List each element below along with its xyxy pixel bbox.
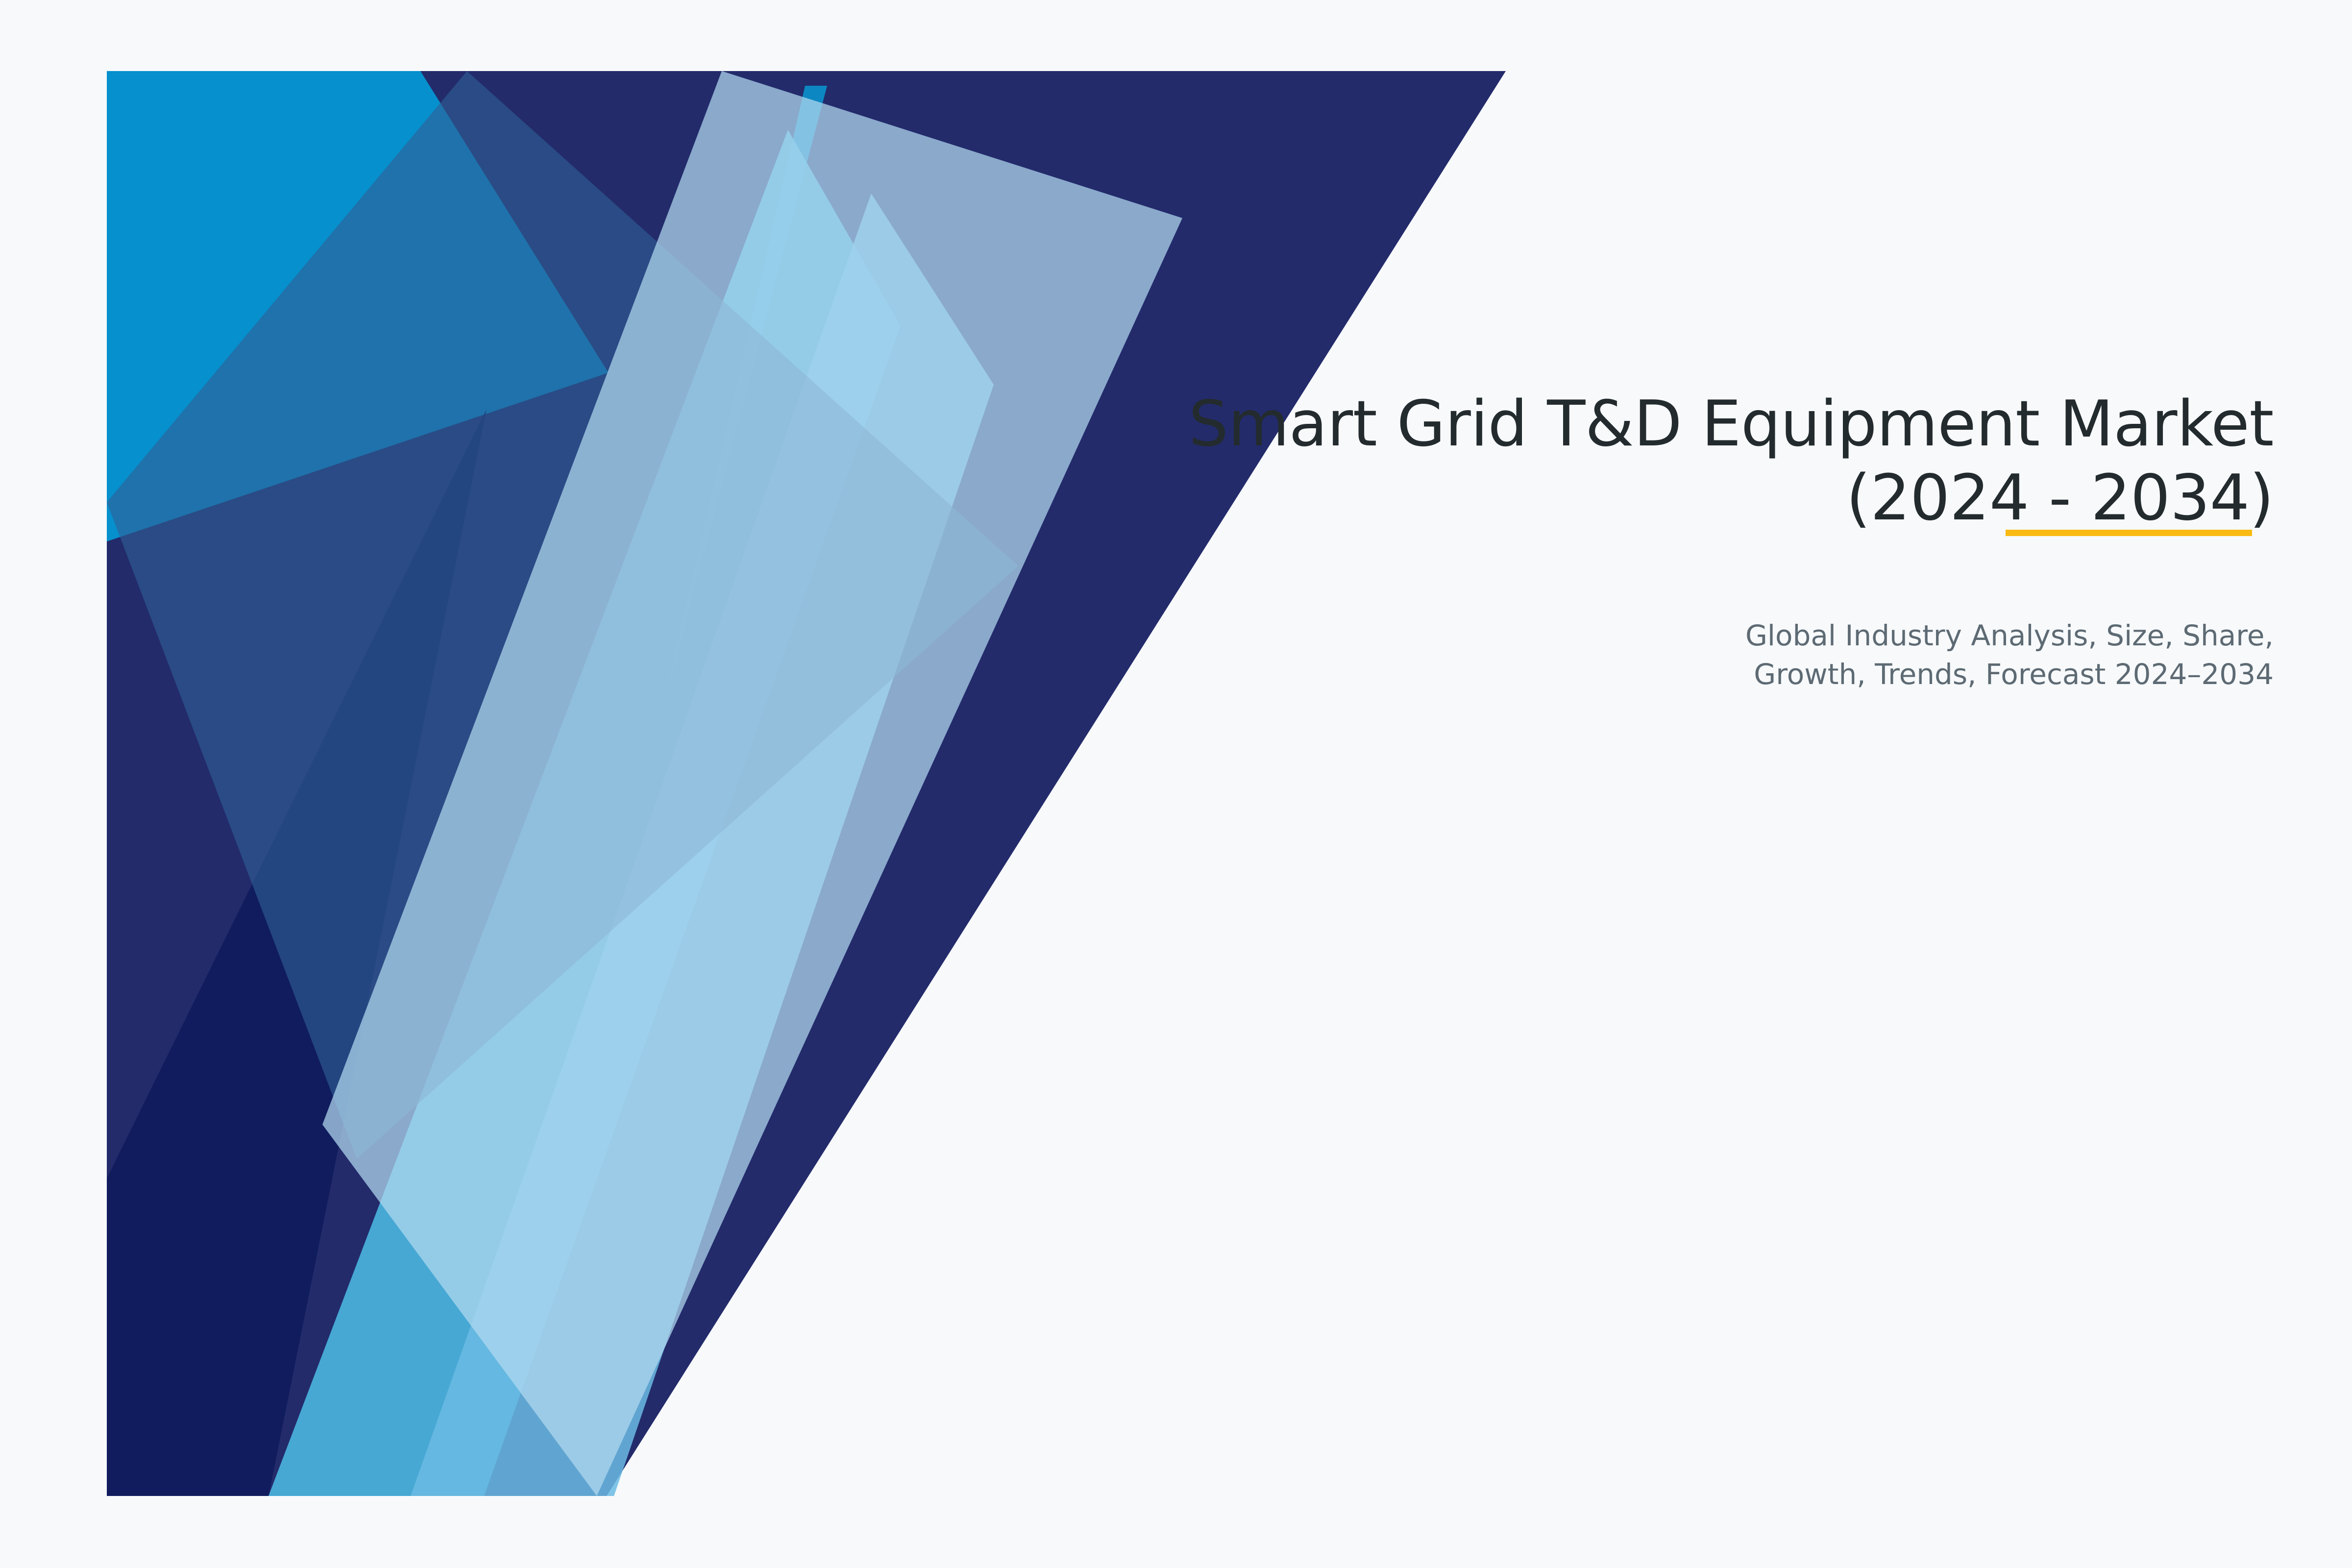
page-title-line-1: Smart Grid T&D Equipment Market	[857, 387, 2274, 461]
cover-page: Smart Grid T&D Equipment Market (2024 - …	[0, 0, 2352, 1568]
abstract-geometric-artwork	[107, 71, 1506, 1496]
page-title-line-2: (2024 - 2034)	[857, 461, 2274, 535]
cover-text-block: Smart Grid T&D Equipment Market (2024 - …	[857, 387, 2274, 694]
page-title-line-2-wrapper: (2024 - 2034)	[857, 461, 2274, 535]
page-subtitle: Global Industry Analysis, Size, Share, G…	[857, 616, 2274, 694]
accent-underline-bar	[2006, 530, 2252, 536]
